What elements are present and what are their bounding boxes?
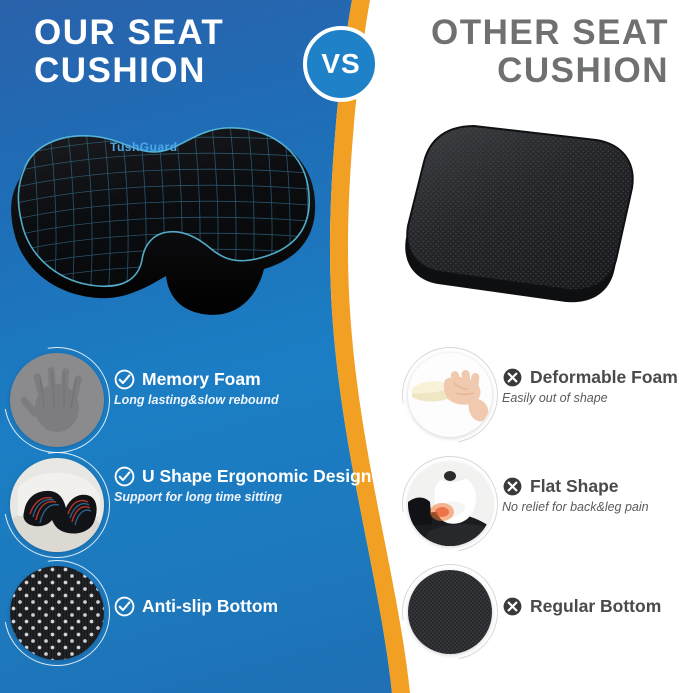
thumbnail-ring — [383, 328, 517, 462]
our-seat-cushion-image — [2, 108, 332, 323]
feature-title: Memory Foam — [142, 370, 261, 390]
anti-slip-dotted-fabric-thumbnail — [10, 566, 104, 660]
gray-foam-handprint-thumbnail — [10, 353, 104, 447]
feature-title: Regular Bottom — [530, 597, 661, 617]
check-circle-icon — [114, 596, 135, 617]
vs-badge-label: VS — [321, 48, 360, 80]
person-with-back-pain-thumbnail — [408, 462, 492, 546]
cushion-on-car-seat-thumbnail — [10, 458, 104, 552]
comparison-infographic: Our Seat Cushion Other Seat Cushion VS — [0, 0, 679, 693]
feature-text: U Shape Ergonomic Design Support for lon… — [114, 458, 371, 505]
feature-title: Anti-slip Bottom — [142, 597, 278, 617]
x-circle-icon — [502, 596, 523, 617]
feature-subtitle: Long lasting&slow rebound — [114, 393, 279, 408]
feature-flat-shape: Flat Shape No relief for back&leg pain — [408, 462, 649, 546]
feature-title-row: Flat Shape — [502, 476, 649, 497]
feature-title: U Shape Ergonomic Design — [142, 467, 371, 487]
feature-u-shape-ergonomic-design: U Shape Ergonomic Design Support for lon… — [10, 458, 371, 552]
feature-title: Flat Shape — [530, 477, 619, 497]
feature-title-row: Memory Foam — [114, 369, 279, 390]
feature-anti-slip-bottom: Anti-slip Bottom — [10, 566, 278, 660]
check-circle-icon — [114, 466, 135, 487]
feature-text: Deformable Foam Easily out of shape — [502, 353, 678, 406]
feature-subtitle: Support for long time sitting — [114, 490, 371, 505]
feature-subtitle: No relief for back&leg pain — [502, 500, 649, 515]
feature-text: Regular Bottom — [502, 570, 661, 617]
feature-title: Deformable Foam — [530, 368, 678, 388]
feature-title-row: Regular Bottom — [502, 596, 661, 617]
vs-badge: VS — [303, 26, 379, 102]
left-title-line-2: Cushion — [34, 52, 304, 90]
x-circle-icon — [502, 367, 523, 388]
left-title-line-1: Our Seat — [34, 14, 304, 52]
right-title-line-2: Cushion — [369, 52, 669, 90]
left-panel-title: Our Seat Cushion — [34, 14, 304, 90]
thumbnail-ring — [383, 437, 517, 571]
check-circle-icon — [114, 369, 135, 390]
feature-text: Memory Foam Long lasting&slow rebound — [114, 353, 279, 408]
feature-title-row: U Shape Ergonomic Design — [114, 466, 371, 487]
feature-regular-bottom: Regular Bottom — [408, 570, 661, 654]
feature-text: Anti-slip Bottom — [114, 566, 278, 617]
right-panel-title: Other Seat Cushion — [369, 14, 669, 90]
feature-subtitle: Easily out of shape — [502, 391, 678, 406]
hand-bending-foam-thumbnail — [408, 353, 492, 437]
plain-black-fabric-thumbnail — [408, 570, 492, 654]
right-title-line-1: Other Seat — [369, 14, 669, 52]
feature-text: Flat Shape No relief for back&leg pain — [502, 462, 649, 515]
x-circle-icon — [502, 476, 523, 497]
feature-title-row: Anti-slip Bottom — [114, 596, 278, 617]
other-seat-cushion-image — [382, 110, 662, 320]
feature-deformable-foam: Deformable Foam Easily out of shape — [408, 353, 678, 437]
feature-title-row: Deformable Foam — [502, 367, 678, 388]
feature-memory-foam: Memory Foam Long lasting&slow rebound — [10, 353, 279, 447]
